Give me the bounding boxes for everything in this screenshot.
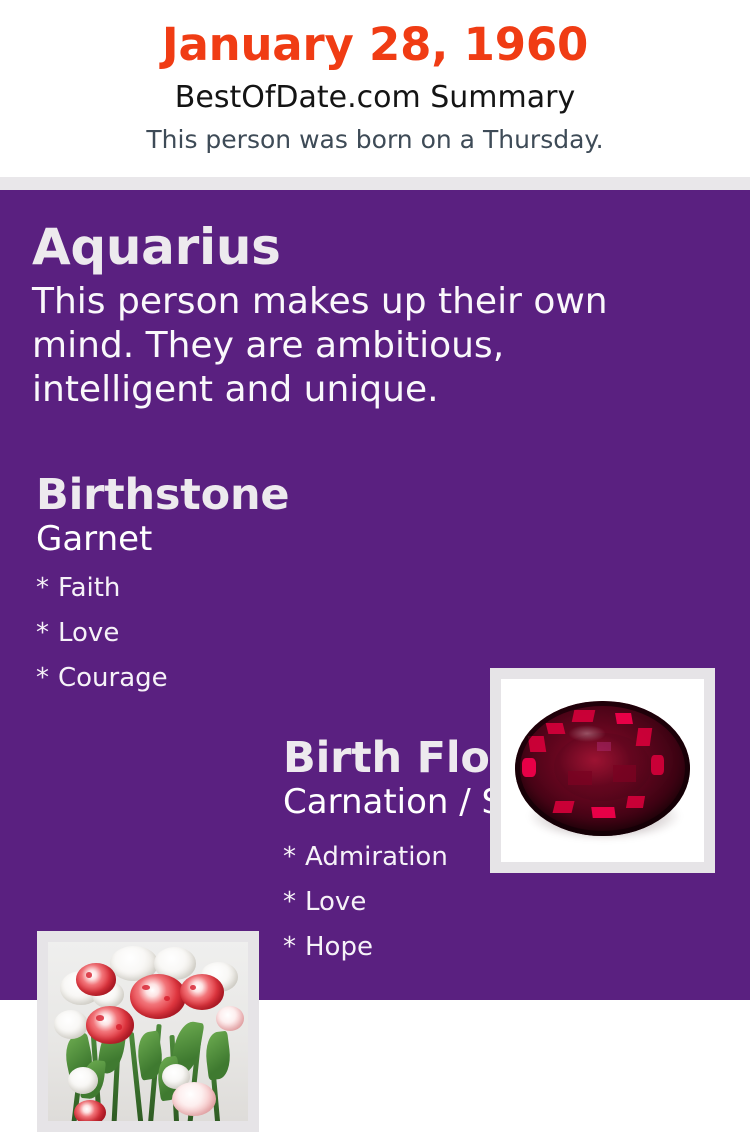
list-item: *Love xyxy=(36,611,466,656)
birthstone-trait-label: Faith xyxy=(58,573,120,603)
list-item: *Courage xyxy=(36,656,466,701)
flower-bloom-white xyxy=(68,1067,98,1094)
petal-speck xyxy=(116,1024,122,1029)
header-divider xyxy=(0,177,750,190)
flower-bloom-pale xyxy=(172,1082,216,1116)
flower-stage xyxy=(48,942,248,1121)
flower-leaf xyxy=(203,1030,232,1079)
header: January 28, 1960 BestOfDate.com Summary … xyxy=(0,0,750,177)
flower-bloom-red xyxy=(76,963,116,995)
birthstone-trait-label: Love xyxy=(58,618,119,648)
gem-body xyxy=(515,701,690,836)
zodiac-description: This person makes up their own mind. The… xyxy=(32,274,692,412)
petal-speck xyxy=(86,972,92,977)
asterisk-bullet-icon: * xyxy=(283,925,305,970)
carnation-bouquet-image xyxy=(48,942,248,1121)
asterisk-bullet-icon: * xyxy=(283,880,305,925)
flower-bloom-pale xyxy=(216,1006,244,1031)
birth-flower-trait-label: Love xyxy=(305,887,366,917)
asterisk-bullet-icon: * xyxy=(283,835,305,880)
flower-bloom-red xyxy=(74,1100,106,1121)
asterisk-bullet-icon: * xyxy=(36,656,58,701)
garnet-gemstone-image xyxy=(501,679,704,862)
list-item: *Faith xyxy=(36,566,466,611)
flower-bloom-white xyxy=(54,1010,88,1039)
birth-flower-trait-label: Admiration xyxy=(305,842,448,872)
birthstone-name: Garnet xyxy=(36,518,466,558)
birthstone-trait-label: Courage xyxy=(58,663,168,693)
birth-flower-image-frame xyxy=(37,931,259,1132)
birthstone-trait-list: *Faith *Love *Courage xyxy=(36,558,466,700)
asterisk-bullet-icon: * xyxy=(36,566,58,611)
zodiac-section: Aquarius This person makes up their own … xyxy=(32,220,692,412)
gem-stage xyxy=(501,679,704,862)
site-subtitle: BestOfDate.com Summary xyxy=(0,67,750,113)
content-panel: Aquarius This person makes up their own … xyxy=(0,190,750,1000)
petal-speck xyxy=(96,1015,104,1020)
birthstone-heading: Birthstone xyxy=(36,473,466,518)
birthstone-section: Birthstone Garnet *Faith *Love *Courage xyxy=(36,473,466,700)
flower-bloom-red xyxy=(86,1006,134,1044)
page-title: January 28, 1960 xyxy=(0,0,750,67)
flower-bloom-red xyxy=(130,974,186,1019)
zodiac-sign-name: Aquarius xyxy=(32,220,692,274)
birthday-summary-card: January 28, 1960 BestOfDate.com Summary … xyxy=(0,0,750,1000)
birthstone-image-frame xyxy=(490,668,715,873)
weekday-note: This person was born on a Thursday. xyxy=(0,113,750,152)
gem-rim xyxy=(515,701,690,836)
petal-speck xyxy=(164,996,170,1001)
asterisk-bullet-icon: * xyxy=(36,611,58,656)
flower-bloom-red xyxy=(180,974,224,1010)
birth-flower-trait-label: Hope xyxy=(305,932,373,962)
list-item: *Love xyxy=(283,880,723,925)
list-item: *Hope xyxy=(283,925,723,970)
